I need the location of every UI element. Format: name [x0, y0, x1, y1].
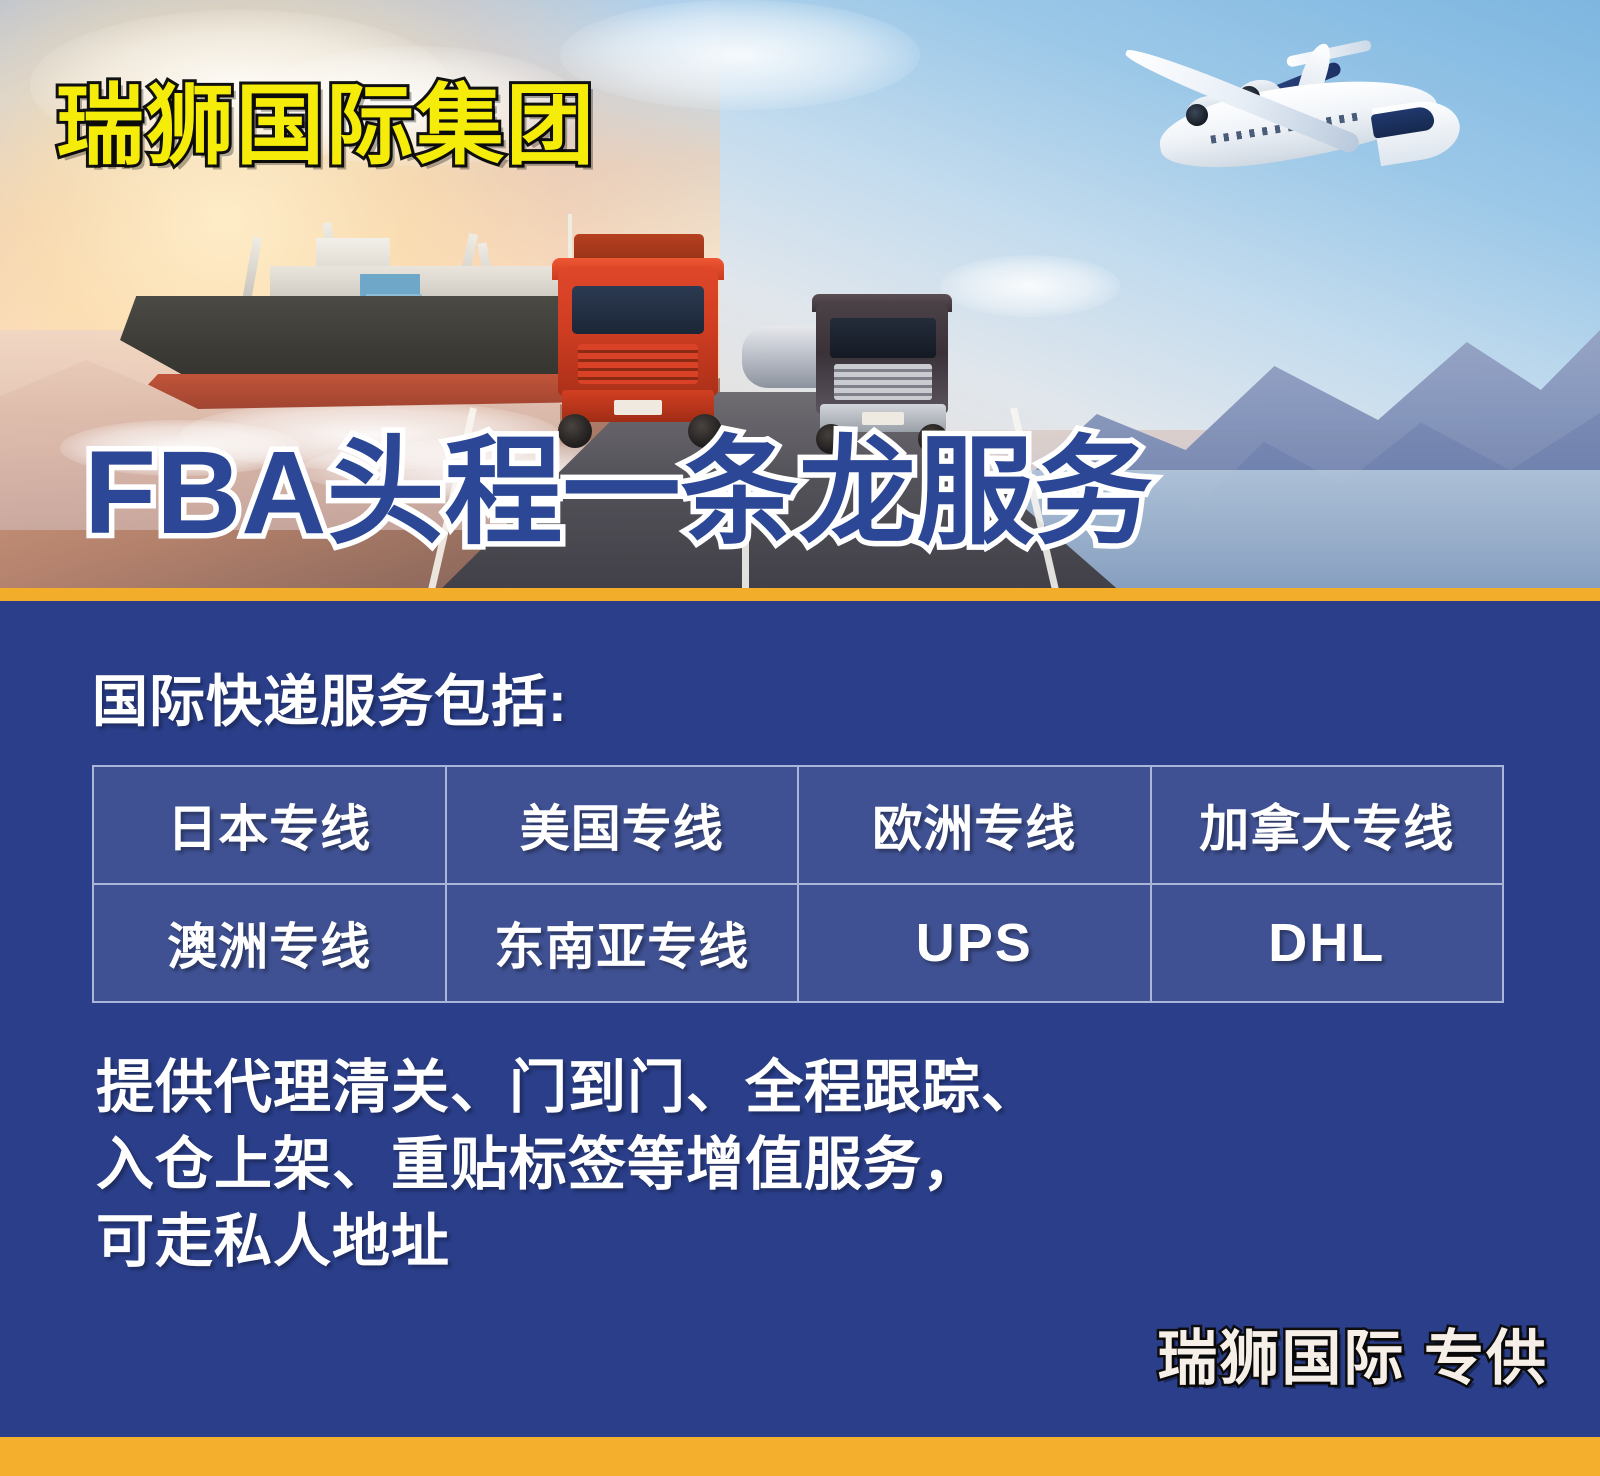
airplane-icon — [1040, 24, 1460, 224]
description-line-3: 可走私人地址 — [96, 1203, 1040, 1280]
description-block: 提供代理清关、门到门、全程跟踪、 入仓上架、重贴标签等增值服务， 可走私人地址 — [96, 1049, 1040, 1280]
services-table: 日本专线 美国专线 欧洲专线 加拿大专线 澳洲专线 东南亚专线 UPS DHL — [92, 765, 1504, 1003]
divider-stripe — [0, 588, 1600, 601]
info-panel: 国际快递服务包括: 日本专线 美国专线 欧洲专线 加拿大专线 澳洲专线 东南亚专… — [0, 601, 1600, 1437]
description-line-1: 提供代理清关、门到门、全程跟踪、 — [96, 1049, 1040, 1126]
description-line-2: 入仓上架、重贴标签等增值服务， — [96, 1126, 1040, 1203]
hero-headline: FBA头程一条龙服务 — [84, 434, 1153, 552]
red-truck-icon — [548, 228, 728, 453]
services-heading: 国际快递服务包括: — [92, 657, 568, 738]
table-cell-japan: 日本专线 — [93, 766, 446, 884]
table-cell-dhl: DHL — [1151, 884, 1504, 1002]
cloud-icon — [560, 0, 920, 110]
hero-photo: 瑞狮国际集团 FBA头程一条龙服务 — [0, 0, 1600, 600]
cloud-icon — [940, 255, 1120, 317]
table-cell-ups: UPS — [798, 884, 1151, 1002]
table-row: 澳洲专线 东南亚专线 UPS DHL — [93, 884, 1503, 1002]
table-cell-canada: 加拿大专线 — [1151, 766, 1504, 884]
table-cell-southeast-asia: 东南亚专线 — [446, 884, 799, 1002]
table-cell-usa: 美国专线 — [446, 766, 799, 884]
table-cell-europe: 欧洲专线 — [798, 766, 1151, 884]
brand-logo: 瑞狮国际集团 — [56, 82, 596, 170]
footer-signature: 瑞狮国际 专供 — [1157, 1329, 1548, 1389]
table-row: 日本专线 美国专线 欧洲专线 加拿大专线 — [93, 766, 1503, 884]
promo-poster: 瑞狮国际集团 FBA头程一条龙服务 国际快递服务包括: 日本专线 美国专线 欧洲… — [0, 0, 1600, 1476]
table-cell-australia: 澳洲专线 — [93, 884, 446, 1002]
bottom-accent-bar — [0, 1437, 1600, 1476]
